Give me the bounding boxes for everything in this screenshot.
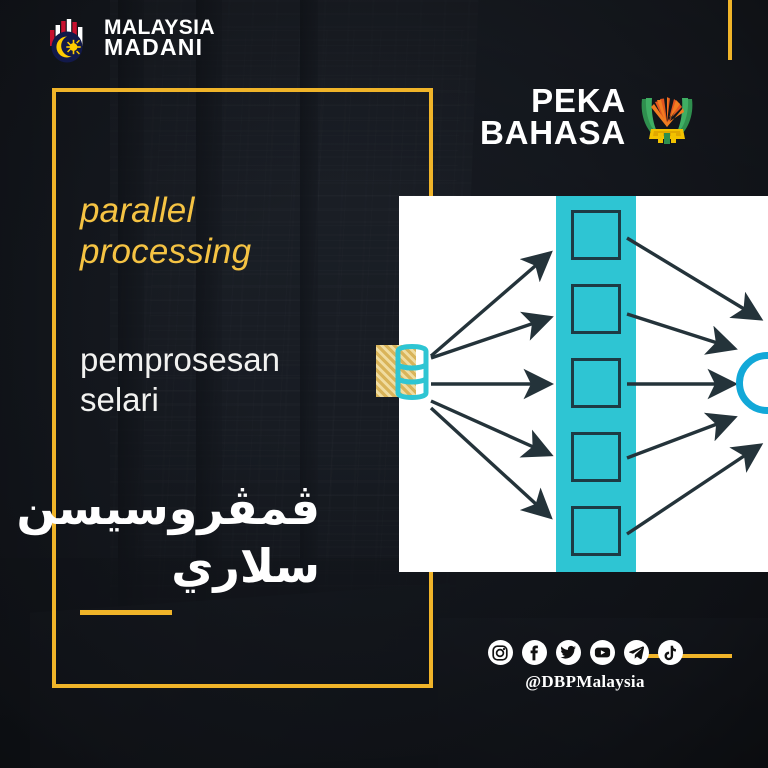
tiktok-icon[interactable]: [658, 640, 683, 665]
campaign-line-1: PEKA: [531, 85, 626, 117]
term-english-line-2: processing: [80, 231, 390, 272]
instagram-icon[interactable]: [488, 640, 513, 665]
malaysia-madani-logo-icon: [42, 12, 94, 64]
malaysia-madani-logo: MALAYSIA MADANI: [42, 12, 215, 64]
gold-corner-top-right: [644, 0, 732, 60]
process-node: [571, 358, 621, 408]
term-jawi: ڤمڤروسيسن سلاري: [70, 480, 320, 595]
process-node: [571, 506, 621, 556]
peka-bahasa-wordmark: PEKA BAHASA: [480, 85, 626, 148]
peka-bahasa-header: PEKA BAHASA: [480, 85, 696, 148]
twitter-icon[interactable]: [556, 640, 581, 665]
social-links: @DBPMalaysia: [470, 640, 700, 692]
process-node: [571, 284, 621, 334]
poster-canvas: MALAYSIA MADANI PEKA BAHASA: [0, 0, 768, 768]
campaign-line-2: BAHASA: [480, 117, 626, 149]
term-malay-line-1: pemprosesan: [80, 340, 400, 380]
term-jawi-line-1: ڤمڤروسيسن: [70, 480, 320, 538]
youtube-icon[interactable]: [590, 640, 615, 665]
process-node: [571, 432, 621, 482]
database-cylinder-icon: [376, 341, 428, 403]
term-english: parallel processing: [80, 190, 390, 273]
dbp-emblem-icon: [638, 89, 696, 145]
facebook-icon[interactable]: [522, 640, 547, 665]
malaysia-madani-wordmark: MALAYSIA MADANI: [104, 18, 215, 58]
telegram-icon[interactable]: [624, 640, 649, 665]
term-jawi-line-2: سلاري: [70, 538, 320, 596]
process-node: [571, 210, 621, 260]
term-malay: pemprosesan selari: [80, 340, 400, 419]
term-malay-line-2: selari: [80, 380, 400, 420]
social-icon-row: [488, 640, 683, 665]
social-handle: @DBPMalaysia: [525, 672, 645, 692]
gold-divider-bar: [80, 610, 172, 615]
brand-line-2: MADANI: [104, 37, 215, 58]
term-english-line-1: parallel: [80, 190, 390, 231]
illustration-panel: [399, 196, 768, 572]
